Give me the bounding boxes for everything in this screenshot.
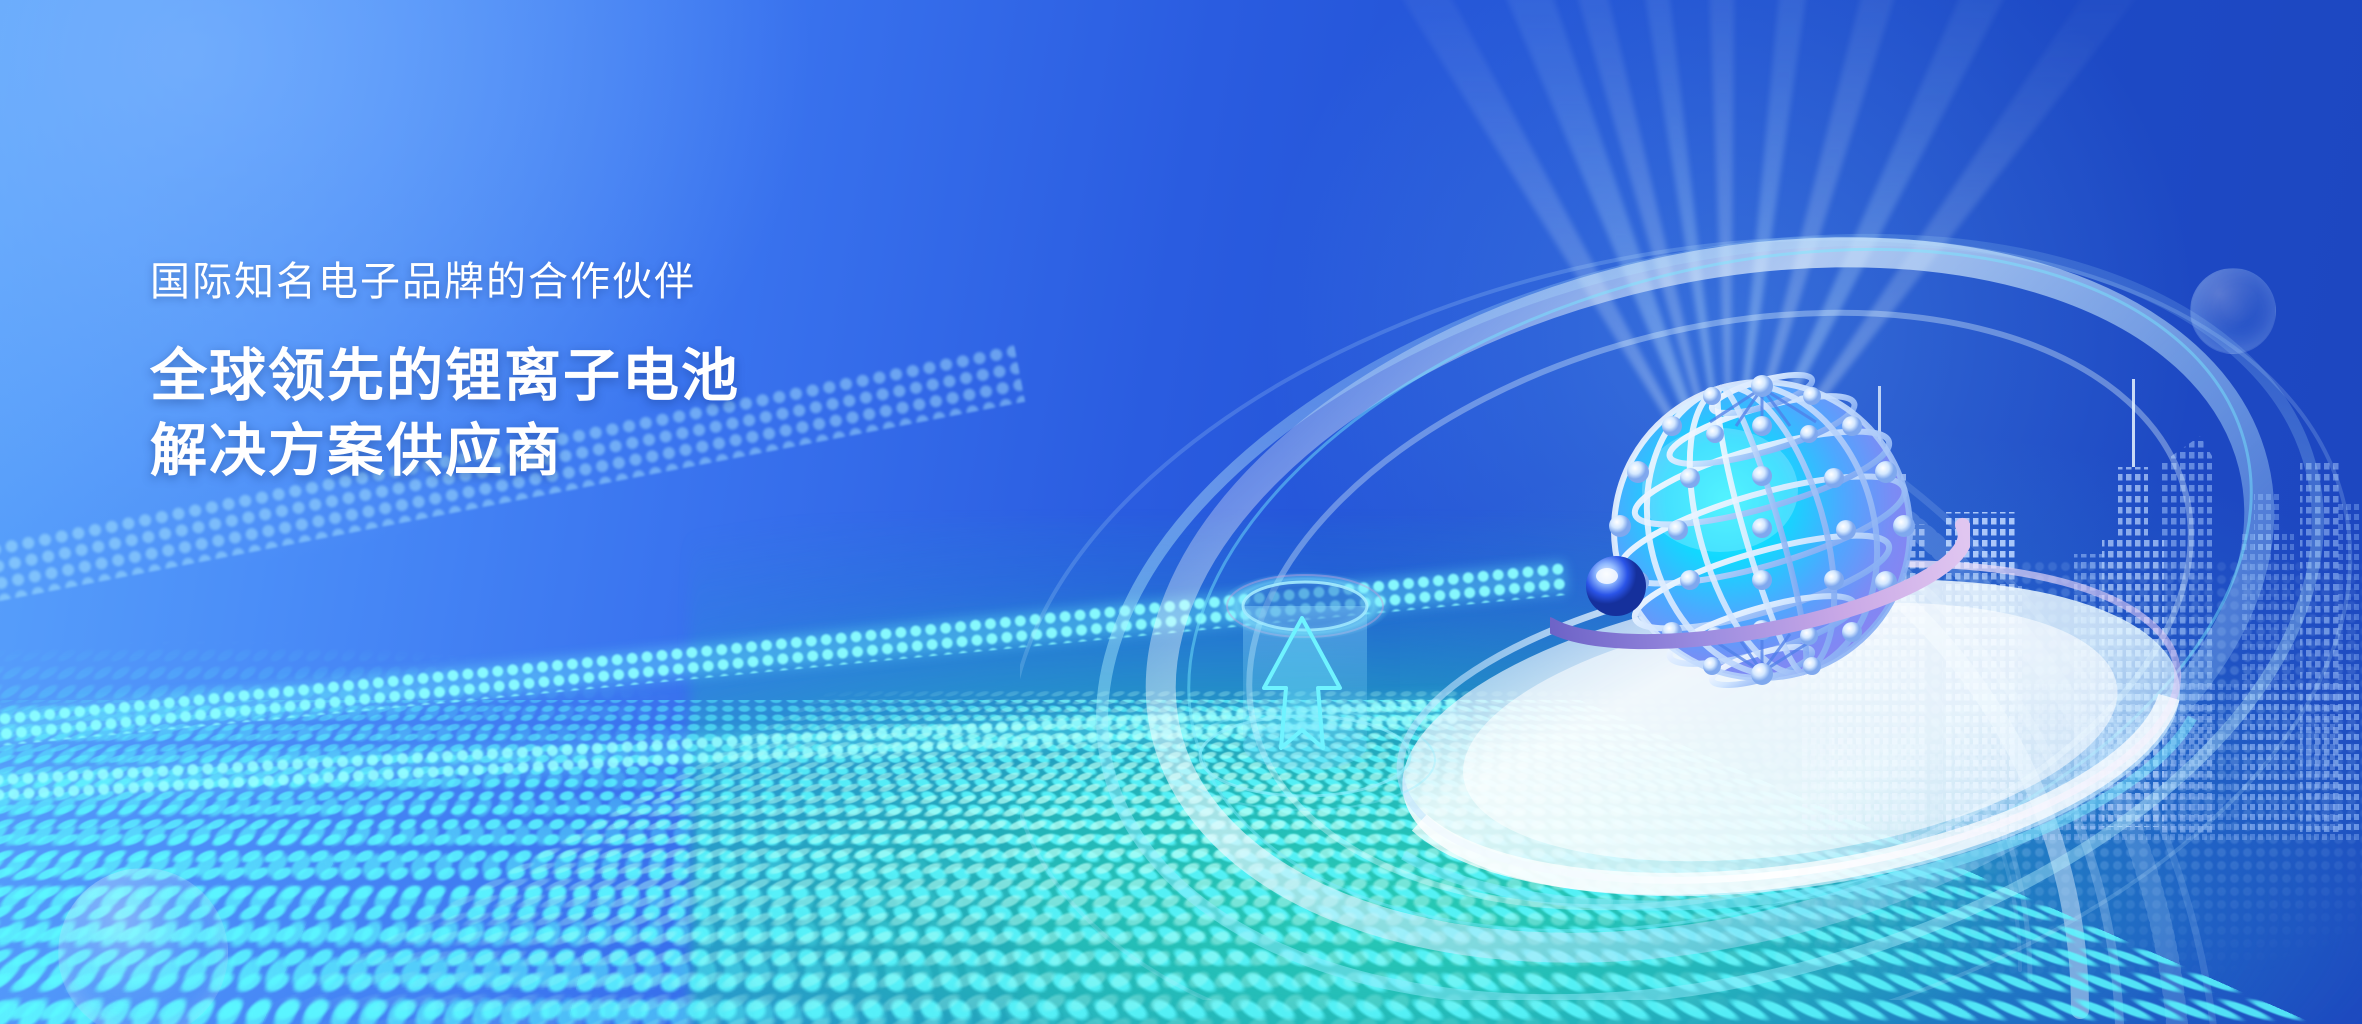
hero-headline-line-1: 全球领先的锂离子电池 [150,339,740,414]
hero-copy: 国际知名电子品牌的合作伙伴 全球领先的锂离子电池 解决方案供应商 [150,262,740,488]
hero-banner: 国际知名电子品牌的合作伙伴 全球领先的锂离子电池 解决方案供应商 [0,0,2362,1024]
wireframe-globe-icon [1550,330,1970,730]
bubble-icon-top-right [2190,268,2276,354]
orbit-bead-icon [1586,556,1646,616]
hero-kicker: 国际知名电子品牌的合作伙伴 [150,262,740,302]
bubble-icon-bottom-left [58,868,228,1024]
hero-headline: 全球领先的锂离子电池 解决方案供应商 [150,339,740,488]
portal-cylinder-icon [1180,570,1460,820]
hero-headline-line-2: 解决方案供应商 [150,414,740,489]
